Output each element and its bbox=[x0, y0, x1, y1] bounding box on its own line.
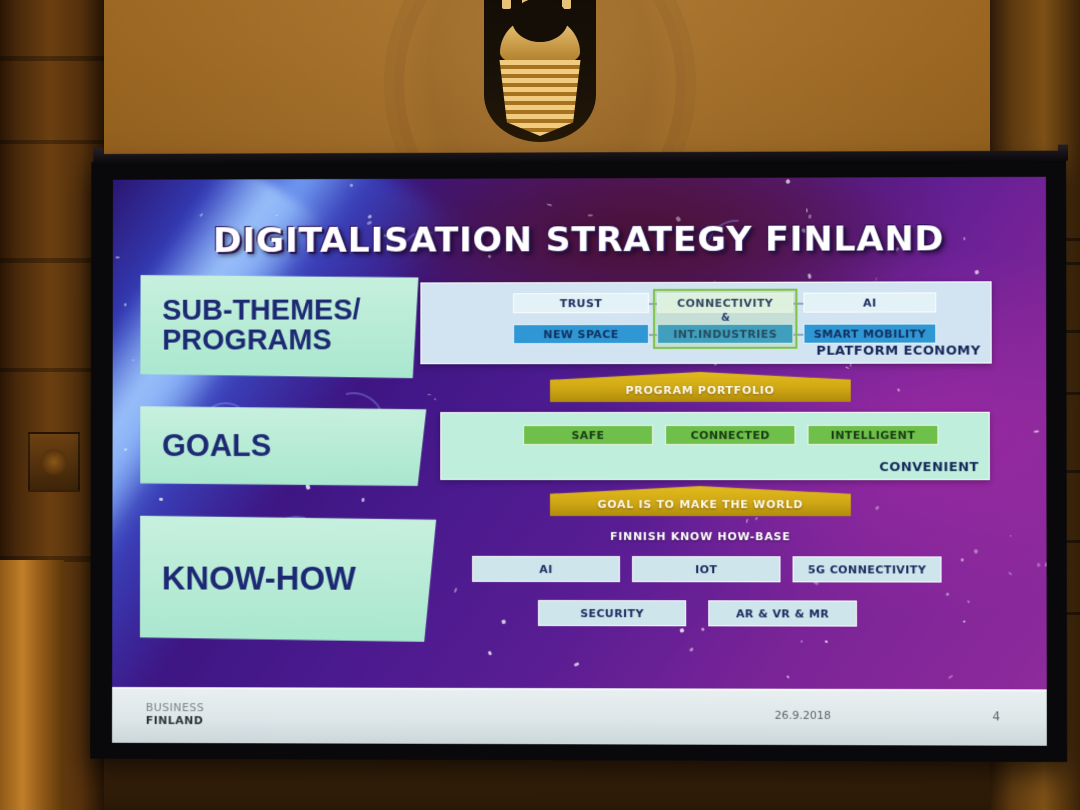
chip-intelligent[interactable]: INTELLIGENT bbox=[808, 425, 939, 445]
goals-panel: SAFE CONNECTED INTELLIGENT CONVENIENT bbox=[440, 412, 990, 480]
chip-knowhow-security[interactable]: SECURITY bbox=[538, 600, 686, 626]
chip-knowhow-ai[interactable]: AI bbox=[472, 556, 620, 582]
banner-program-portfolio: PROGRAM PORTFOLIO bbox=[550, 372, 851, 402]
screen-surface: DIGITALISATION STRATEGY FINLAND TRUST CO… bbox=[112, 177, 1047, 746]
chip-smart-mobility[interactable]: SMART MOBILITY bbox=[803, 324, 936, 344]
presentation-slide: DIGITALISATION STRATEGY FINLAND TRUST CO… bbox=[112, 177, 1047, 690]
banner-goal-world: GOAL IS TO MAKE THE WORLD bbox=[550, 486, 851, 516]
chip-new-space[interactable]: NEW SPACE bbox=[513, 324, 649, 344]
logo-line-business: BUSINESS bbox=[146, 701, 204, 715]
row-label-subthemes: SUB-THEMES/ PROGRAMS bbox=[140, 274, 418, 378]
goals-label: GOALS bbox=[162, 430, 271, 461]
business-finland-logo: BUSINESS FINLAND bbox=[146, 701, 205, 728]
knowhow-heading: FINNISH KNOW HOW-BASE bbox=[410, 530, 992, 544]
subthemes-label-line2: PROGRAMS bbox=[162, 324, 331, 356]
knowhow-label: KNOW-HOW bbox=[162, 562, 356, 596]
banner-goal-world-text: GOAL IS TO MAKE THE WORLD bbox=[598, 498, 804, 516]
logo-line-finland: FINLAND bbox=[146, 714, 205, 728]
wall-rosette-ornament bbox=[28, 432, 80, 492]
ampersand-label: & bbox=[721, 313, 730, 324]
convenient-label: CONVENIENT bbox=[879, 460, 979, 475]
amber-curtain bbox=[0, 560, 64, 810]
subthemes-label-line1: SUB-THEMES/ bbox=[162, 295, 360, 327]
slide-title: DIGITALISATION STRATEGY FINLAND bbox=[112, 219, 1047, 260]
chip-ai[interactable]: AI bbox=[803, 292, 936, 312]
coat-of-arms-icon bbox=[484, 0, 596, 142]
chip-connected[interactable]: CONNECTED bbox=[665, 425, 795, 445]
chip-trust[interactable]: TRUST bbox=[513, 293, 649, 313]
slide-page-number: 4 bbox=[993, 709, 1001, 723]
knowhow-panel: FINNISH KNOW HOW-BASE AI IOT 5G CONNECTI… bbox=[410, 524, 992, 679]
chip-knowhow-iot[interactable]: IOT bbox=[632, 556, 780, 582]
subthemes-panel: TRUST CONNECTIVITY AI NEW SPACE INT.INDU… bbox=[420, 281, 991, 364]
screen-top-rail bbox=[95, 151, 1066, 166]
platform-economy-label: PLATFORM ECONOMY bbox=[816, 344, 980, 359]
banner-program-portfolio-text: PROGRAM PORTFOLIO bbox=[626, 384, 775, 402]
slide-footer: BUSINESS FINLAND 26.9.2018 4 bbox=[112, 687, 1047, 746]
chip-knowhow-5g[interactable]: 5G CONNECTIVITY bbox=[793, 556, 942, 582]
row-label-goals: GOALS bbox=[140, 406, 426, 486]
chip-knowhow-ar-vr-mr[interactable]: AR & VR & MR bbox=[708, 600, 857, 626]
row-label-knowhow: KNOW-HOW bbox=[140, 516, 436, 642]
slide-date: 26.9.2018 bbox=[775, 709, 831, 722]
projection-screen: DIGITALISATION STRATEGY FINLAND TRUST CO… bbox=[90, 159, 1067, 762]
chip-safe[interactable]: SAFE bbox=[523, 425, 653, 445]
